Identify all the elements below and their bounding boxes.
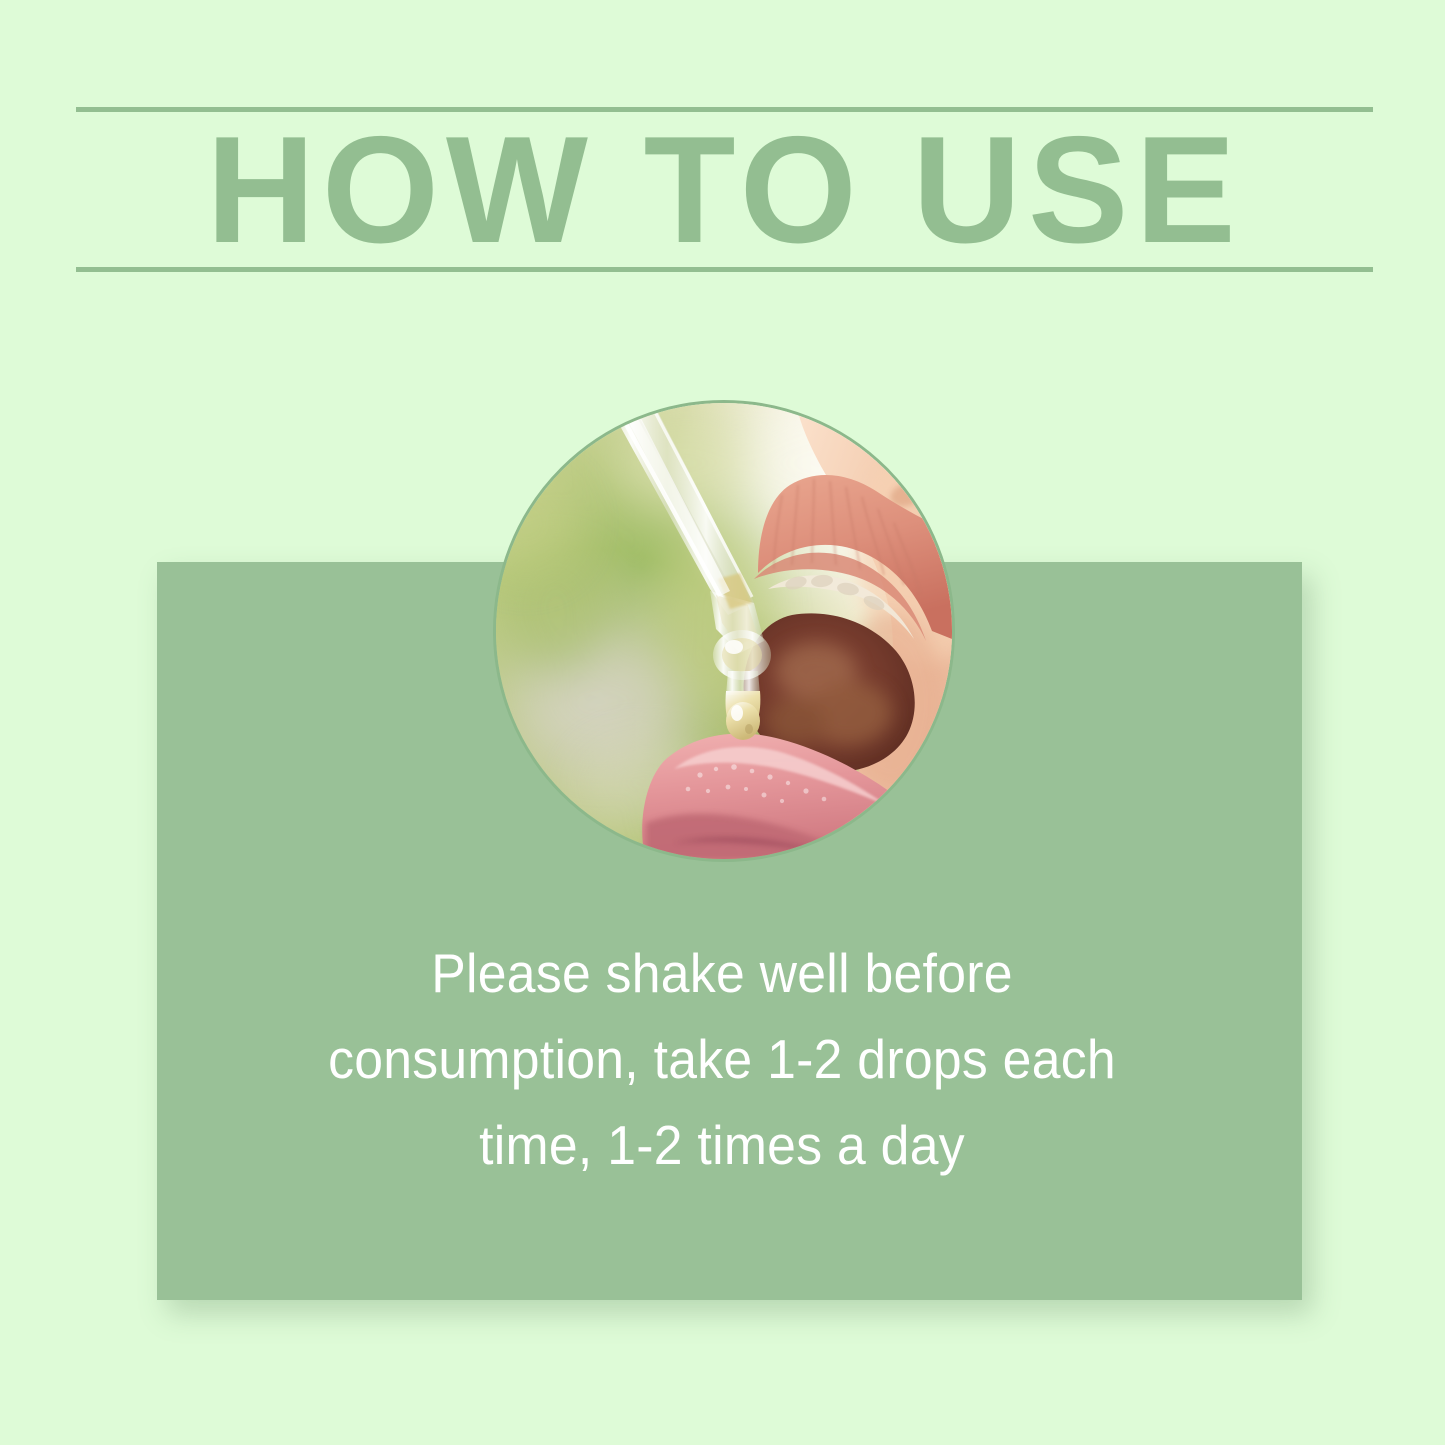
photo-illustration — [496, 403, 952, 859]
dropper-dispensing-into-mouth-photo — [493, 400, 955, 862]
instruction-text: Please shake well before consumption, ta… — [271, 930, 1173, 1188]
page-title: HOW TO USE — [82, 112, 1366, 267]
header-block: HOW TO USE — [76, 107, 1373, 272]
bottom-divider — [76, 267, 1373, 272]
how-to-use-card: HOW TO USE — [0, 0, 1445, 1445]
